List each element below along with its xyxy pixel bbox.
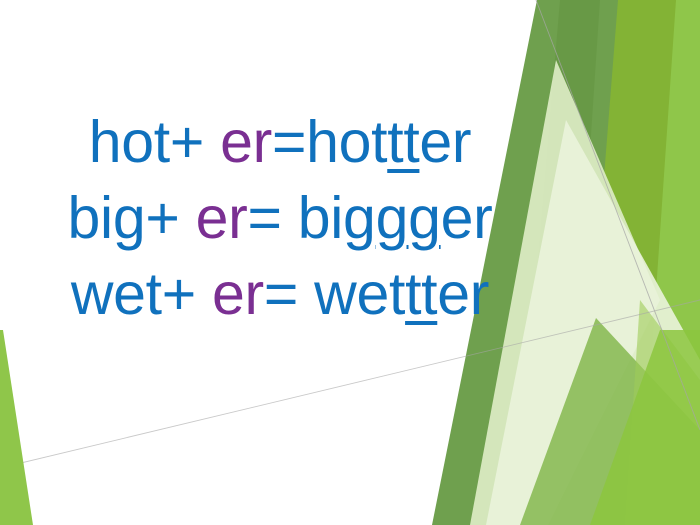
equation-line-wet: wet+ er= wettter — [0, 256, 560, 332]
equation-line-hot: hot+ er=hottter — [0, 104, 560, 180]
line-wet-segment-doubled: tt — [405, 261, 437, 327]
green-overlay-bottom — [520, 318, 700, 525]
line-hot-segment-doubled: tt — [387, 109, 419, 175]
equation-text-block: hot+ er=hottter big+ er= biggger wet+ er… — [0, 104, 560, 332]
line-wet-segment-result-1: = wet — [264, 261, 405, 327]
line-hot-segment-suffix: er — [220, 109, 272, 175]
green-band-far-right — [612, 0, 700, 525]
hairline-diagonal-upper — [536, 0, 700, 430]
line-big-segment-base: big+ — [68, 185, 196, 251]
line-wet-segment-result-2: er — [437, 261, 489, 327]
line-hot-segment-result-2: er — [419, 109, 471, 175]
line-wet-segment-suffix: er — [212, 261, 264, 327]
green-accent-lower-right — [625, 300, 700, 525]
line-hot-segment-base: hot+ — [89, 109, 220, 175]
line-big-segment-result-1: = big — [247, 185, 375, 251]
line-wet-segment-base: wet+ — [71, 261, 212, 327]
slide-canvas: hot+ er=hottter big+ er= biggger wet+ er… — [0, 0, 700, 525]
line-big-segment-result-2: er — [441, 185, 493, 251]
green-wedge-bottom-right — [590, 330, 700, 525]
line-big-segment-suffix: er — [196, 185, 248, 251]
line-hot-segment-result-1: =hot — [272, 109, 387, 175]
green-wedge-bottom-left — [0, 330, 33, 525]
line-big-segment-doubled: gg — [376, 185, 441, 251]
equation-line-big: big+ er= biggger — [0, 180, 560, 256]
